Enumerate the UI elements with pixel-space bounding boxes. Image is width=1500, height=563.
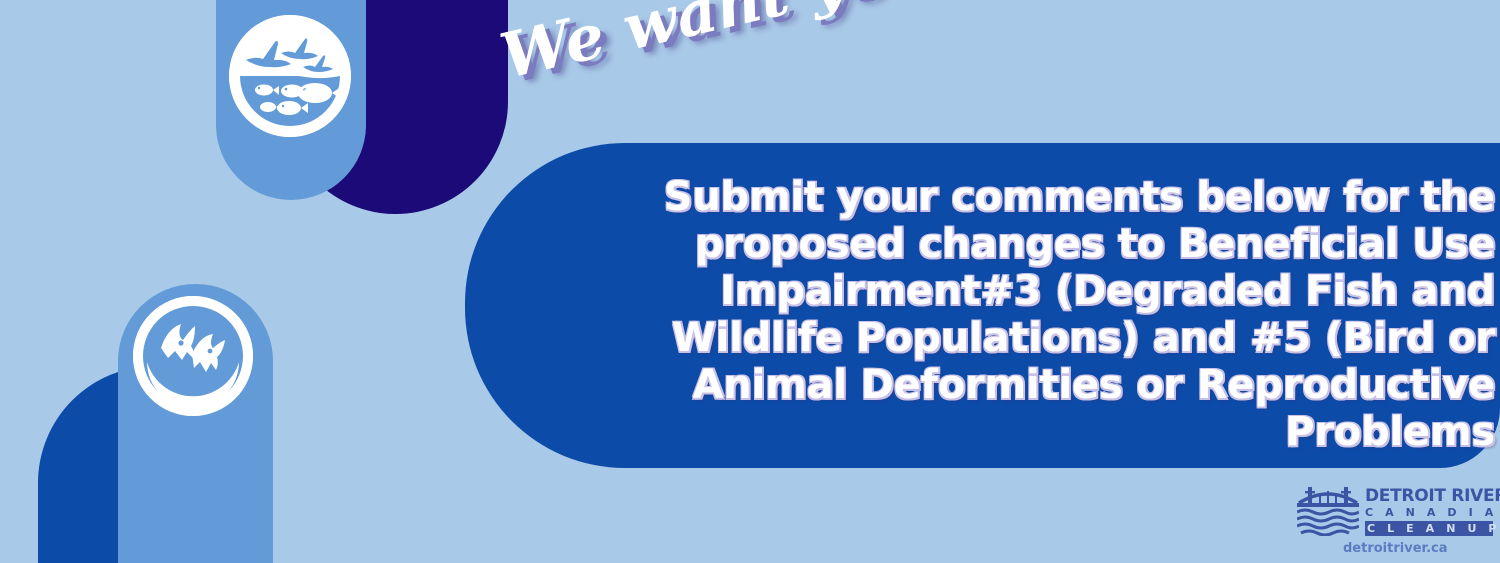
birds-over-water-with-fish-icon [229, 15, 351, 137]
logo-line-cleanup: C L E A N U P [1365, 521, 1493, 536]
logo-line-canadian: C A N A D I A N [1365, 505, 1493, 520]
feedback-banner: Submit your comments below for the propo… [0, 0, 1500, 563]
logo-wordmark: DETROIT RIVER C A N A D I A N C L E A N … [1365, 487, 1493, 536]
deformed-two-headed-fish-icon [133, 296, 253, 416]
body-copy: Submit your comments below for the propo… [625, 174, 1495, 456]
bridge-over-water-icon [1297, 487, 1359, 536]
logo-website-url: detroitriver.ca [1343, 541, 1447, 556]
logo-line-detroit-river: DETROIT RIVER [1365, 487, 1493, 505]
headline-script: We want your feedback! [494, 0, 1192, 92]
detroit-river-canadian-cleanup-logo: DETROIT RIVER C A N A D I A N C L E A N … [1297, 487, 1493, 557]
